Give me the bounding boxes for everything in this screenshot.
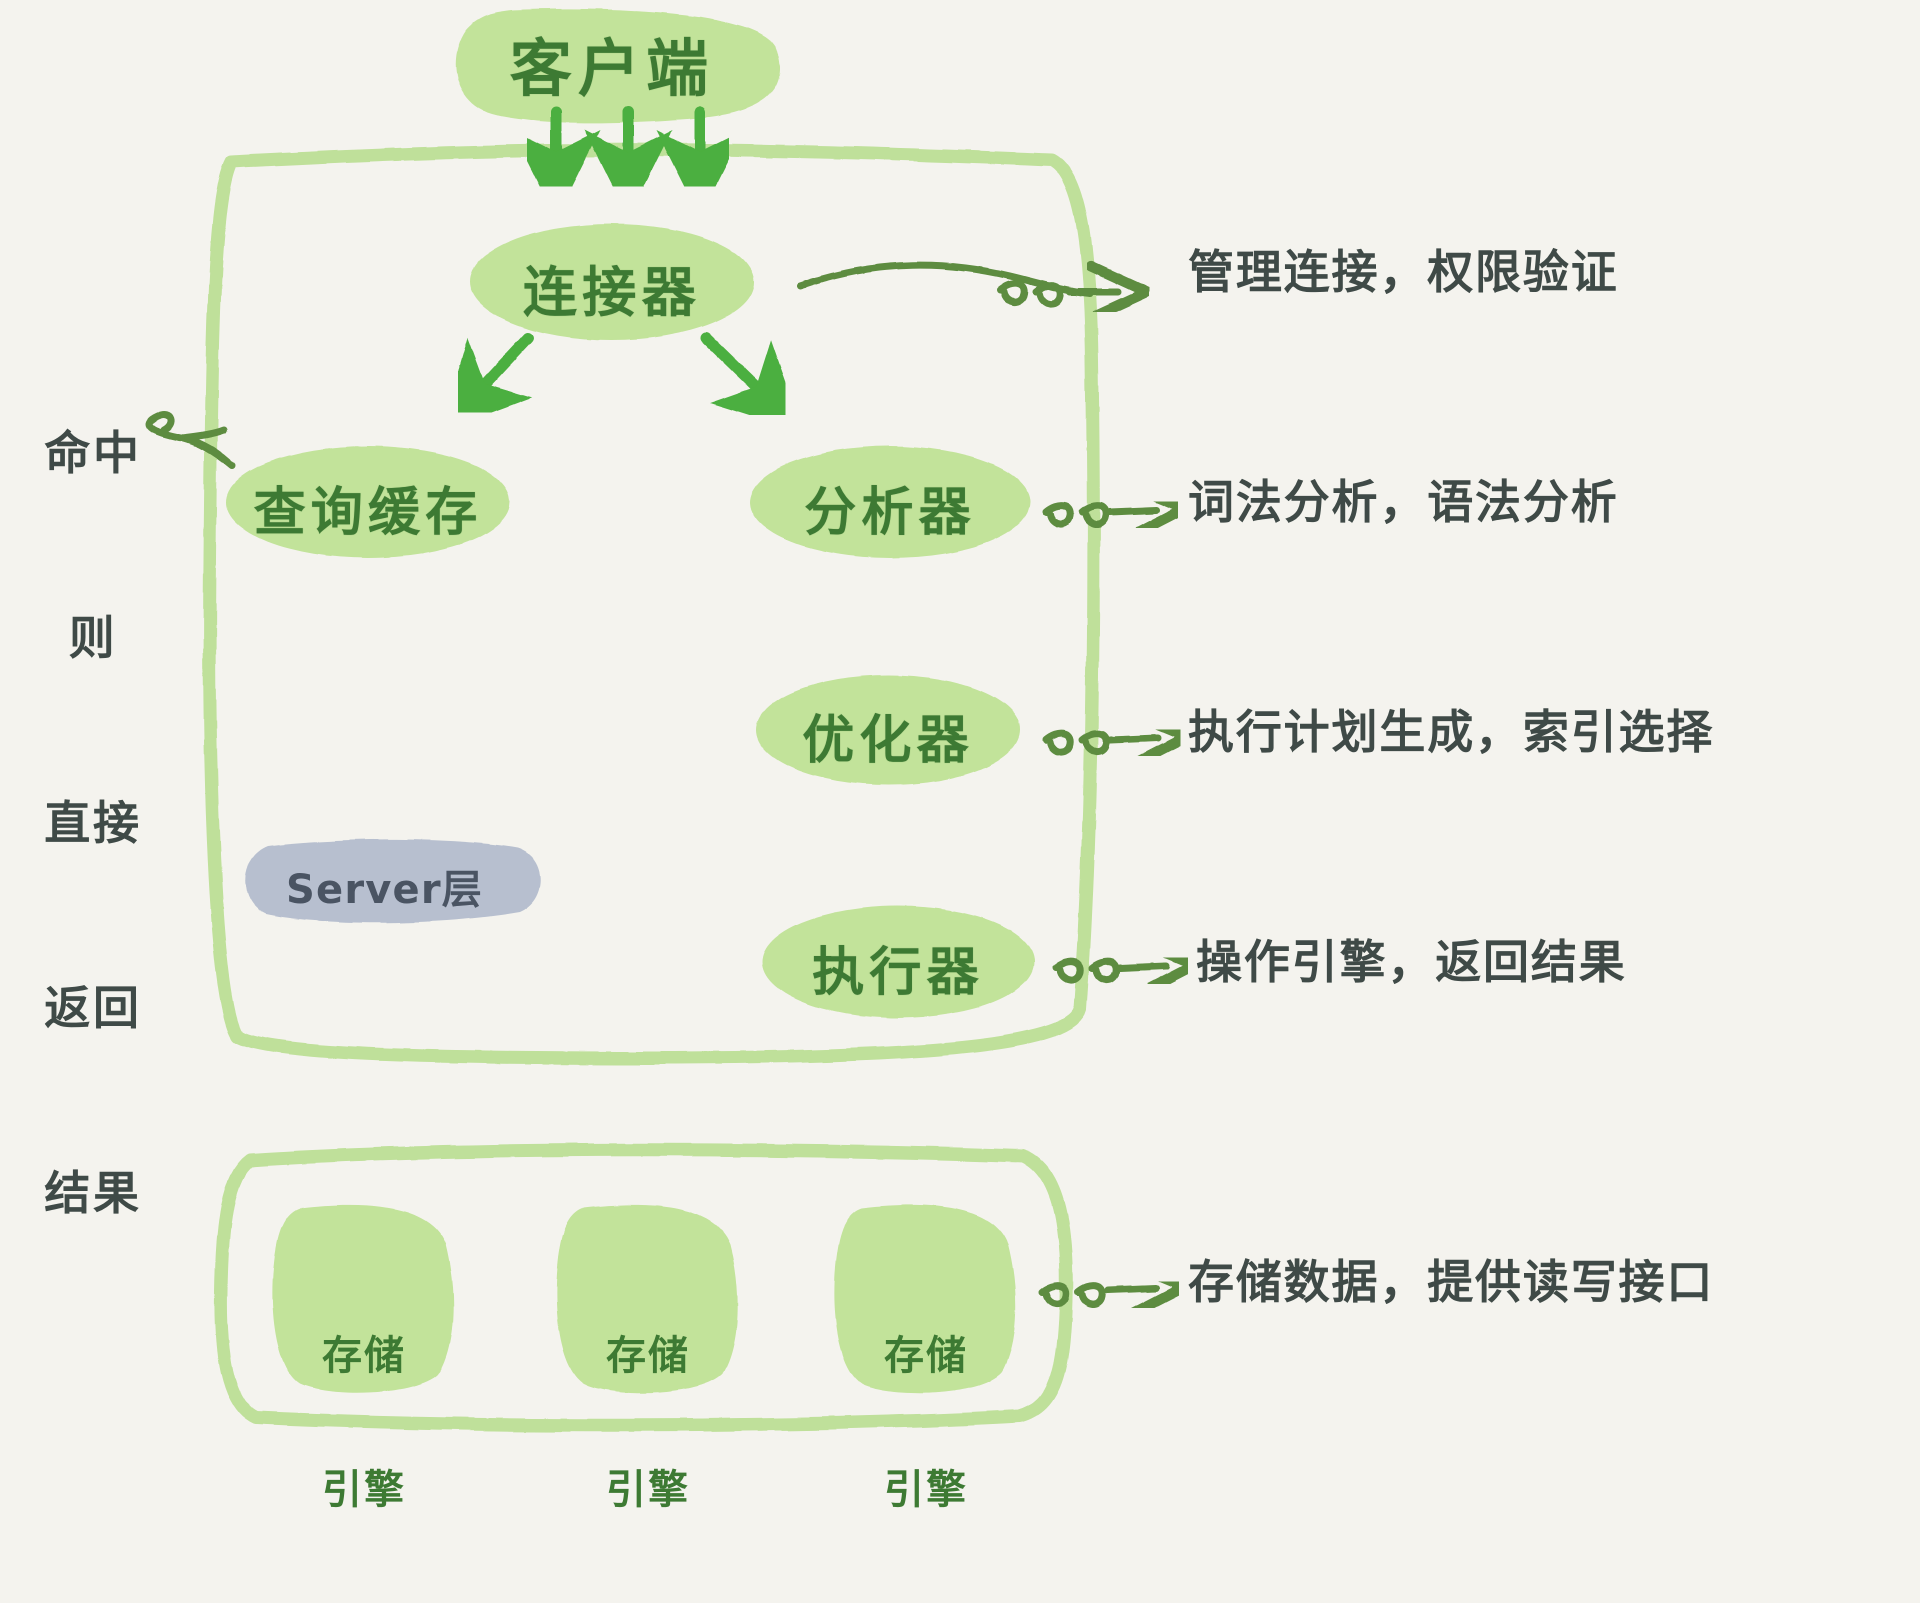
side-note-arrow [149,415,232,466]
annotation-executor: 操作引擎，返回结果 [1196,926,1627,992]
diagram-canvas: 客户端 连接器 查询缓存 分析器 优化器 执行器 Server层 存储 引擎 存… [0,0,1920,1440]
side-note-line-2: 则 [28,608,158,670]
server-layer-badge-label: Server层 [286,857,483,915]
storage-engine-2-line2: 引擎 [560,1468,736,1513]
ann-executor-arrow [1056,962,1166,980]
annotation-optimizer: 执行计划生成，索引选择 [1188,696,1714,762]
side-note: 命中 则 直接 返回 结果 [28,300,158,1348]
side-note-line-4: 返回 [28,978,158,1040]
ann-optimizer-arrow [1046,734,1158,752]
storage-engine-1-label[interactable]: 存储 引擎 [276,1244,452,1602]
ann-storage-arrow [1042,1286,1156,1304]
storage-engine-1-line1: 存储 [276,1334,452,1379]
storage-engine-3-line1: 存储 [838,1334,1014,1379]
storage-engine-3-label[interactable]: 存储 引擎 [838,1244,1014,1602]
side-note-line-5: 结果 [28,1163,158,1225]
client-node-shape [456,9,780,123]
storage-engine-1-line2: 引擎 [276,1468,452,1513]
query-cache-node-shape [226,446,510,558]
connector-node-shape [470,224,754,340]
annotation-storage: 存储数据，提供读写接口 [1188,1246,1714,1312]
side-note-line-3: 直接 [28,793,158,855]
optimizer-node-shape [756,675,1020,785]
executor-node-shape [762,906,1034,1018]
storage-engine-3-line2: 引擎 [838,1468,1014,1513]
storage-engine-2-label[interactable]: 存储 引擎 [560,1244,736,1602]
annotation-connector: 管理连接，权限验证 [1188,236,1619,302]
side-note-line-1: 命中 [28,423,158,485]
arrow-connector-to-cache [470,338,528,400]
ann-parser-arrow [1046,506,1156,524]
ann-connector-arrow [800,265,1118,304]
arrow-connector-to-parser [706,338,772,402]
parser-node-shape [750,446,1030,558]
annotation-parser: 词法分析，语法分析 [1188,466,1619,532]
storage-engine-2-line1: 存储 [560,1334,736,1379]
